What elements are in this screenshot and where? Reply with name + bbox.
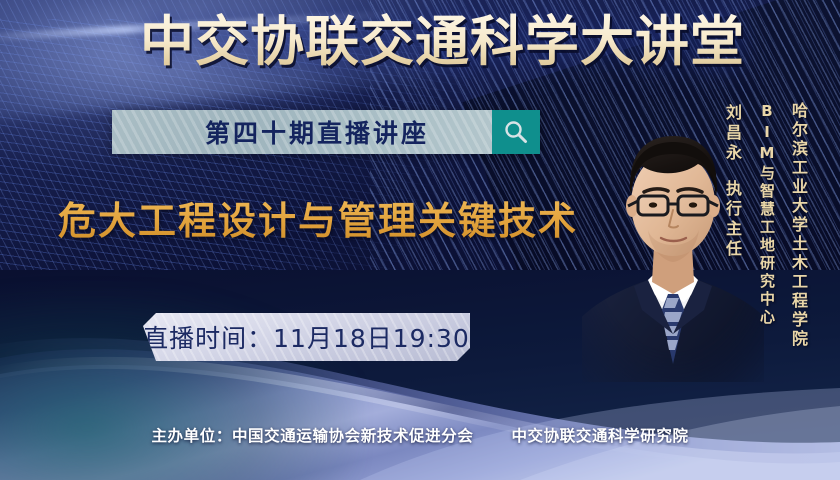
search-button[interactable] xyxy=(492,110,540,154)
page-title: 中交协联交通科学大讲堂 xyxy=(140,13,745,70)
search-icon xyxy=(503,119,529,145)
live-lecture-poster: 中交协联交通科学大讲堂 第四十期直播讲座 危大工程设计与管理关键技术 直播时间：… xyxy=(0,0,840,480)
speaker-center-label: BIM与智慧工地研究中心 xyxy=(757,102,778,327)
episode-banner-body: 第四十期直播讲座 xyxy=(112,110,492,154)
live-time-banner: 直播时间：11月18日19:30 xyxy=(143,313,470,361)
speaker-name-label: 刘昌永 xyxy=(720,104,744,164)
footer-organizer: 主办单位：中国交通运输协会新技术促进分会 xyxy=(151,427,473,445)
footer-co-organizer: 中交协联交通科学研究院 xyxy=(511,427,688,445)
speaker-school-label: 哈尔滨工业大学土木工程学院 xyxy=(786,102,810,349)
episode-banner: 第四十期直播讲座 xyxy=(112,110,540,154)
speaker-role-label: 执行主任 xyxy=(720,180,744,260)
lecture-title: 危大工程设计与管理关键技术 xyxy=(58,190,578,245)
live-time-label: 直播时间：11月18日19:30 xyxy=(143,319,470,355)
episode-label: 第四十期直播讲座 xyxy=(175,114,429,150)
footer-organizers: 主办单位：中国交通运输协会新技术促进分会 中交协联交通科学研究院 xyxy=(0,424,840,446)
